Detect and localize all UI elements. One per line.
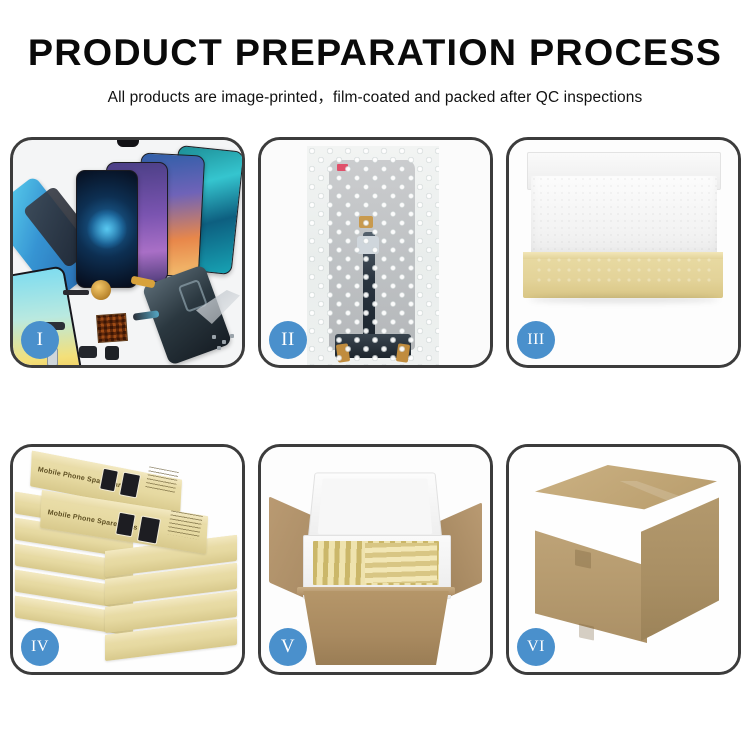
bubble-texture-icon	[307, 146, 439, 365]
phone-screen-dark-icon	[76, 170, 138, 288]
step-badge-1: I	[21, 321, 59, 359]
header: PRODUCT PREPARATION PROCESS All products…	[0, 0, 750, 107]
step-badge-2: II	[269, 321, 307, 359]
wrapped-contents-icon	[535, 256, 711, 286]
carton-tab-upper-icon	[575, 549, 591, 568]
page-title: PRODUCT PREPARATION PROCESS	[0, 34, 750, 71]
product-preparation-infographic: PRODUCT PREPARATION PROCESS All products…	[0, 0, 750, 750]
steps-grid: I II	[10, 137, 740, 675]
speaker-module-icon	[91, 280, 111, 300]
bubble-wrap-bag-icon	[307, 146, 439, 365]
kraft-boxes-inside-2-icon	[365, 543, 437, 583]
foam-sheet-icon	[531, 176, 717, 260]
step-badge-5: V	[269, 628, 307, 666]
step-badge-6: VI	[517, 628, 555, 666]
logic-board-icon	[96, 313, 128, 343]
loudspeaker-icon	[105, 346, 119, 360]
page-subtitle: All products are image-printed，film-coat…	[0, 85, 750, 107]
carton-tab-lower-icon	[579, 623, 594, 640]
step-panel-1: I	[10, 137, 245, 368]
step-panel-4: Mobile Phone Spare Parts Mobile Phone Sp…	[10, 444, 245, 675]
step-panel-2: II	[258, 137, 493, 368]
step-panel-3: III	[506, 137, 741, 368]
taptic-engine-icon	[79, 346, 97, 358]
step-panel-5: V	[258, 444, 493, 675]
step-badge-4: IV	[21, 628, 59, 666]
step-panel-6: VI	[506, 444, 741, 675]
step-badge-3: III	[517, 321, 555, 359]
screws-icon	[210, 333, 236, 351]
carton-body-icon	[297, 591, 455, 665]
drop-shadow	[529, 296, 719, 303]
earpiece-bar-icon	[63, 290, 89, 295]
